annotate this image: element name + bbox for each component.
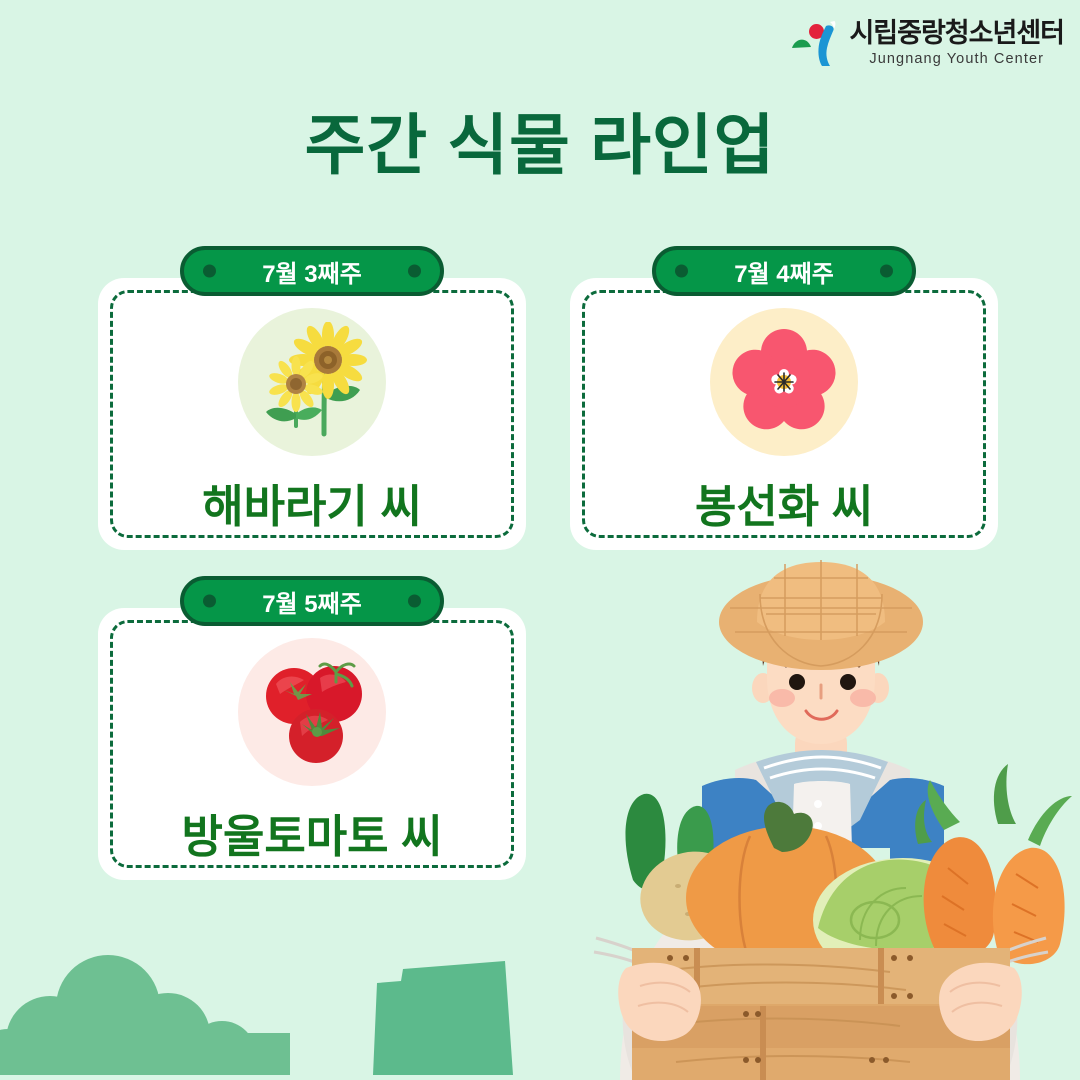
week-badge-label: 7월 3째주 xyxy=(262,254,362,289)
badge-dot-right-icon xyxy=(408,595,421,608)
badge-dot-left-icon xyxy=(675,265,688,278)
week-badge-label: 7월 4째주 xyxy=(734,254,834,289)
week-badge-label: 7월 5째주 xyxy=(262,584,362,619)
plant-name-label: 봉선화 씨 xyxy=(570,470,998,535)
jungnang-logo-mark-icon xyxy=(789,18,841,68)
week-badge-5[interactable]: 7월 5째주 xyxy=(180,576,444,626)
plant-card-week4[interactable]: 봉선화 씨 xyxy=(570,278,998,550)
week-badge-4[interactable]: 7월 4째주 xyxy=(652,246,916,296)
poster-canvas: 시립중랑청소년센터 Jungnang Youth Center 주간 식물 라인… xyxy=(0,0,1080,1080)
badge-dot-left-icon xyxy=(203,595,216,608)
balsam-flower-icon xyxy=(710,308,858,456)
organization-logo: 시립중랑청소년센터 Jungnang Youth Center xyxy=(789,18,1064,68)
badge-dot-left-icon xyxy=(203,265,216,278)
bush-decoration-icon xyxy=(0,955,410,1080)
plant-card-week3[interactable]: 해바라기 씨 xyxy=(98,278,526,550)
badge-dot-right-icon xyxy=(408,265,421,278)
cherry-tomato-icon xyxy=(238,638,386,786)
plant-card-week5[interactable]: 방울토마토 씨 xyxy=(98,608,526,880)
plant-name-label: 방울토마토 씨 xyxy=(98,800,526,865)
logo-name-english: Jungnang Youth Center xyxy=(869,52,1044,67)
seed-packet-decoration-icon xyxy=(373,955,513,1080)
page-title: 주간 식물 라인업 xyxy=(0,92,1080,188)
plant-name-label: 해바라기 씨 xyxy=(98,470,526,535)
week-badge-3[interactable]: 7월 3째주 xyxy=(180,246,444,296)
sunflower-icon xyxy=(238,308,386,456)
farmer-boy-with-vegetable-crate-illustration xyxy=(560,548,1080,1080)
badge-dot-right-icon xyxy=(880,265,893,278)
logo-name-korean: 시립중랑청소년센터 xyxy=(849,20,1064,47)
